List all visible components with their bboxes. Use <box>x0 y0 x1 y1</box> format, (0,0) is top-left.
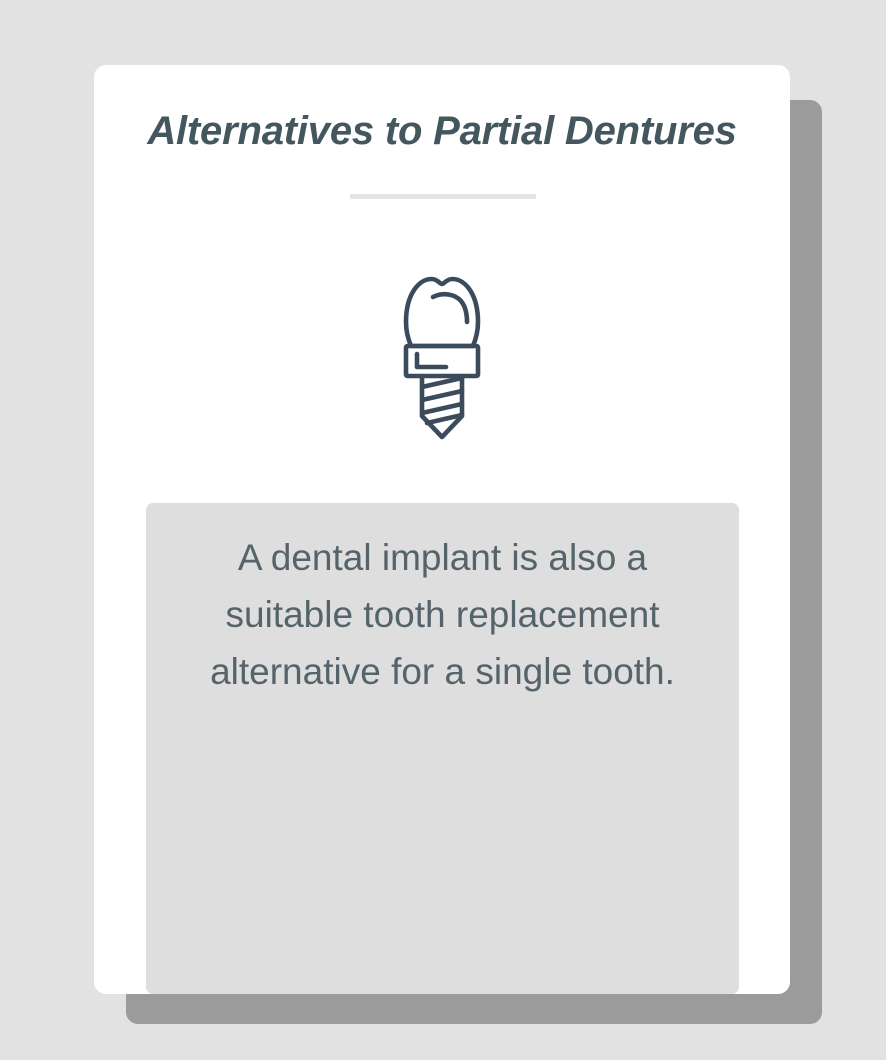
content-card: Alternatives to Partial Dentures <box>94 65 790 994</box>
dental-implant-icon <box>392 270 492 442</box>
title-divider <box>350 194 536 199</box>
body-text: A dental implant is also a suitable toot… <box>176 529 709 700</box>
slide-canvas: Alternatives to Partial Dentures <box>0 0 886 1060</box>
page-title: Alternatives to Partial Dentures <box>122 109 762 154</box>
body-text-panel: A dental implant is also a suitable toot… <box>146 503 739 994</box>
